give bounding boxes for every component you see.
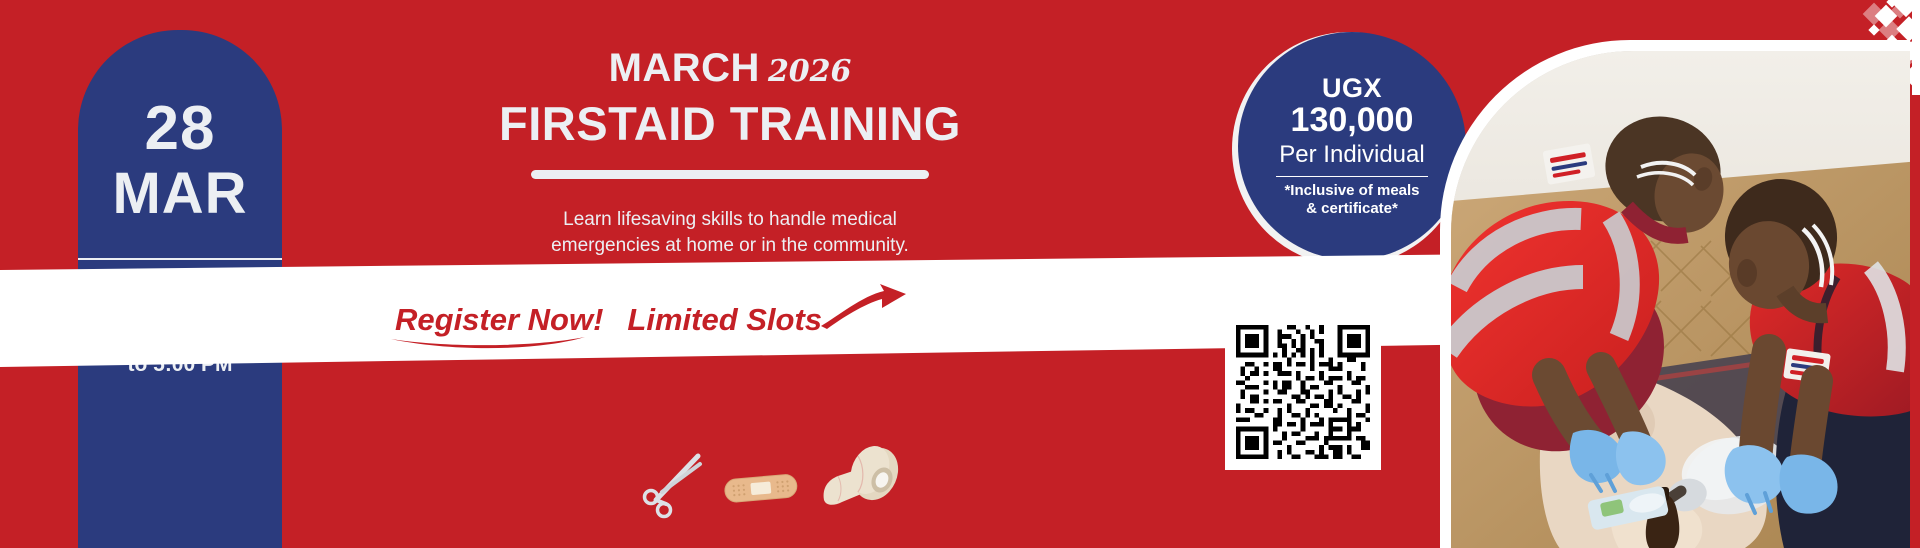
price-note: *Inclusive of meals & certificate*	[1238, 182, 1466, 219]
firstaid-training-banner: 28 MAR From 9:00 AM to 5:00 PM MARCH2026…	[0, 0, 1920, 548]
cpr-training-photo	[1440, 40, 1910, 548]
price-badge-body: UGX 130,000 Per Individual *Inclusive of…	[1238, 32, 1466, 260]
qr-code-icon[interactable]	[1225, 314, 1381, 470]
price-badge: UGX 130,000 Per Individual *Inclusive of…	[1232, 32, 1466, 266]
subtitle-line-1: Learn lifesaving skills to handle medica…	[420, 207, 1040, 233]
page-title: FIRSTAID TRAINING	[420, 100, 1040, 147]
price-per-unit: Per Individual	[1238, 141, 1466, 170]
register-now-label: Register Now!	[395, 302, 603, 337]
photo-image	[1451, 51, 1910, 548]
register-underline-swash	[389, 335, 589, 349]
headline-month-row: MARCH2026	[420, 48, 1040, 88]
price-currency: UGX	[1238, 74, 1466, 102]
price-divider	[1276, 176, 1428, 178]
date-day: 28	[78, 98, 282, 160]
photo-frame	[1440, 40, 1910, 548]
headline-month: MARCH	[609, 46, 760, 90]
curved-arrow-right-icon	[818, 282, 908, 330]
register-now-cta[interactable]: Register Now!	[395, 302, 603, 338]
price-amount: 130,000	[1238, 102, 1466, 139]
date-month: MAR	[78, 164, 282, 225]
gauze-roll-icon	[824, 440, 907, 507]
surgical-scissors-icon	[645, 456, 701, 517]
headline-block: MARCH2026 FIRSTAID TRAINING Learn lifesa…	[420, 48, 1040, 259]
price-note-line-2: & certificate*	[1262, 200, 1442, 218]
medical-supplies-group	[640, 440, 910, 540]
headline-year: 2026	[768, 54, 852, 89]
price-note-line-1: *Inclusive of meals	[1262, 182, 1442, 200]
headline-divider	[531, 170, 929, 179]
limited-slots-label: Limited Slots	[627, 302, 822, 338]
adhesive-bandage-icon	[724, 474, 798, 503]
